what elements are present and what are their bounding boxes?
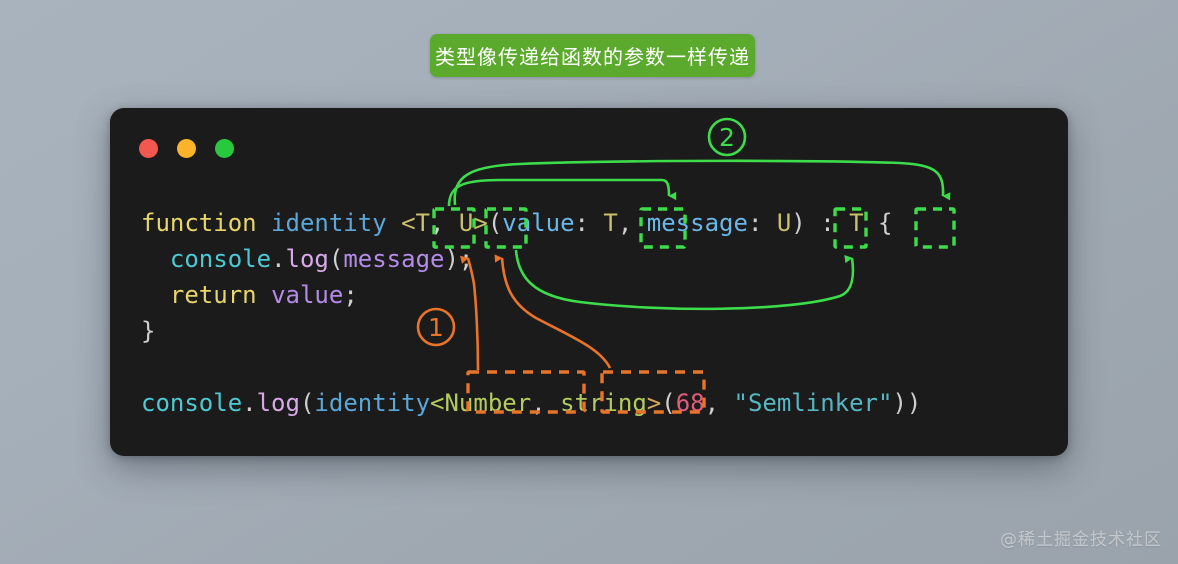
code-token: value [271,281,343,309]
code-token: value [502,209,574,237]
code-token: <T [401,209,430,237]
code-token: identity [314,389,430,417]
code-token: ( [329,245,343,273]
code-token: T [603,209,617,237]
code-token: , [430,209,459,237]
code-token [257,281,271,309]
window-minimize-button[interactable] [177,139,196,158]
code-token: , [705,389,734,417]
code-token: string [560,389,647,417]
code-line-4: } [141,313,921,349]
code-token: U> [459,209,488,237]
code-token: )) [892,389,921,417]
code-token: : [748,209,777,237]
code-token [141,281,170,309]
code-token: return [170,281,257,309]
code-token: console [141,389,242,417]
code-token: , [618,209,647,237]
code-token [141,245,170,273]
code-token [387,209,401,237]
code-token: log [257,389,300,417]
code-block: function identity <T, U>(value: T, messa… [141,205,921,421]
code-line-6: console.log(identity<Number, string>(68,… [141,385,921,421]
code-token: <Number [430,389,531,417]
code-token: . [271,245,285,273]
code-token: function [141,209,257,237]
code-token [257,209,271,237]
code-token: T [849,209,863,237]
callout-banner-label: 类型像传递给函数的参数一样传递 [435,41,750,70]
code-line-1: function identity <T, U>(value: T, messa… [141,205,921,241]
code-token: U [777,209,791,237]
code-token: console [170,245,271,273]
code-token: : [575,209,604,237]
code-token: 68 [676,389,705,417]
code-token: message [343,245,444,273]
code-token: . [242,389,256,417]
code-token: ) : [791,209,849,237]
window-close-button[interactable] [139,139,158,158]
code-token: "Semlinker" [734,389,893,417]
code-token: log [286,245,329,273]
window-maximize-button[interactable] [215,139,234,158]
code-token: ; [343,281,357,309]
code-token: } [141,317,155,345]
code-line-3: return value; [141,277,921,313]
code-token: , [531,389,560,417]
watermark: @稀土掘金技术社区 [1000,525,1162,550]
code-line-2: console.log(message); [141,241,921,277]
code-token: ( [488,209,502,237]
code-line-5 [141,349,921,385]
code-token: ( [300,389,314,417]
code-token: message [647,209,748,237]
code-token: > [647,389,661,417]
callout-banner: 类型像传递给函数的参数一样传递 [430,34,755,77]
code-token: { [864,209,893,237]
code-token: ); [444,245,473,273]
code-token: ( [661,389,675,417]
code-token: identity [271,209,387,237]
